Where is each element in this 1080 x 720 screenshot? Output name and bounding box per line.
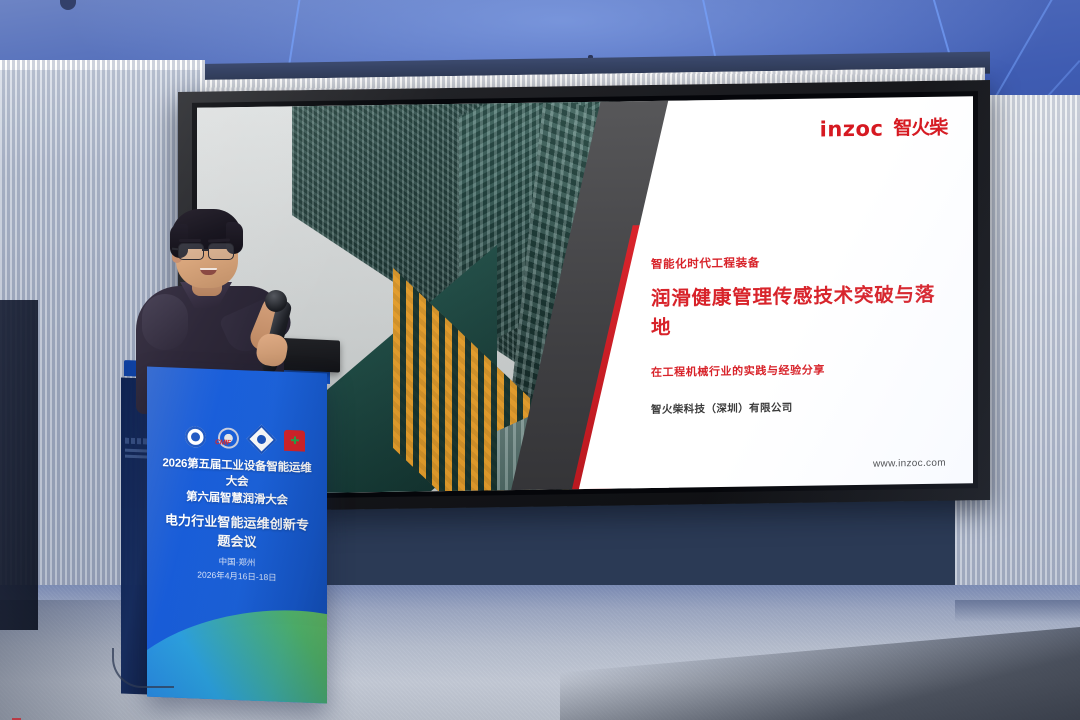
podium-heading: 2026第五届工业设备智能运维大会 第六届智慧润滑大会 xyxy=(159,455,315,510)
slide-website-url: www.inzoc.com xyxy=(873,457,946,469)
stage-left-banner xyxy=(0,300,38,630)
inzoc-logo: inzoc 智火柴 xyxy=(820,118,948,141)
slide-eyebrow: 智能化时代工程装备 xyxy=(651,251,950,271)
podium-side-graphics xyxy=(125,438,147,462)
eyeglasses-icon xyxy=(177,243,239,259)
slide-organization: 智火柴科技（深圳）有限公司 xyxy=(651,397,950,416)
inzoc-wordmark: inzoc xyxy=(820,119,884,141)
cmif-gear-icon xyxy=(218,427,239,449)
speaker-eyebrow xyxy=(179,239,201,242)
podium-logo-row xyxy=(185,426,305,452)
podium-location-dates: 中国·郑州 2026年4月16日-18日 xyxy=(159,553,315,586)
floor-wall-seam xyxy=(955,600,1080,622)
inzoc-chinese-name: 智火柴 xyxy=(893,119,947,139)
diamond-emblem-icon xyxy=(247,425,277,455)
circle-emblem-icon xyxy=(185,426,206,448)
podium-ribbon-green xyxy=(147,591,327,704)
podium: 2026第五届工业设备智能运维大会 第六届智慧润滑大会 电力行业智能运维创新专题… xyxy=(147,367,327,704)
podium-subheading: 电力行业智能运维创新专题会议 xyxy=(159,509,315,553)
speaker-shoulder-highlight xyxy=(142,294,188,350)
podium-side-panel xyxy=(121,377,149,694)
slide-text-block: 智能化时代工程装备 润滑健康管理传感技术突破与落地 在工程机械行业的实践与经验分… xyxy=(651,251,950,416)
red-green-emblem-icon xyxy=(284,430,305,452)
slide-subtitle: 在工程机械行业的实践与经验分享 xyxy=(651,359,950,379)
conference-photo-scene: inzoc 智火柴 智能化时代工程装备 润滑健康管理传感技术突破与落地 在工程机… xyxy=(0,0,1080,720)
slide-title: 润滑健康管理传感技术突破与落地 xyxy=(651,277,950,339)
